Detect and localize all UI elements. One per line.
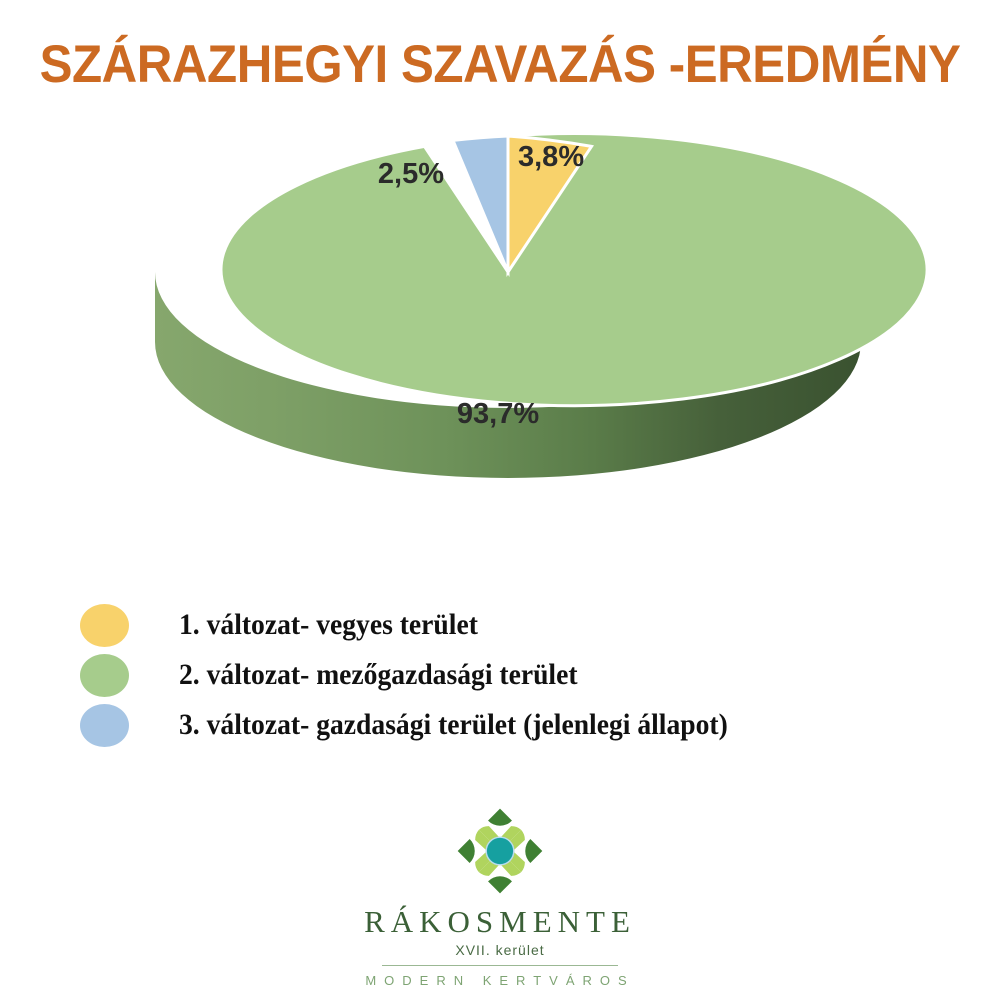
legend-swatch-blue-icon (80, 704, 129, 747)
page-title: SZÁRAZHEGYI SZAVAZÁS -EREDMÉNY (35, 34, 965, 95)
pie-top-face (221, 134, 927, 406)
legend-label-1: 1. változat- vegyes terület (179, 608, 478, 642)
legend-swatch-green-icon (80, 654, 129, 697)
slice-value-yellow: 3,8% (518, 141, 584, 173)
organization-logo: RÁKOSMENTE XVII. kerület MODERN KERTVÁRO… (0, 805, 1000, 987)
legend-label-3: 3. változat- gazdasági terület (jelenleg… (179, 708, 728, 742)
logo-divider (382, 965, 618, 966)
rakosmente-flower-icon (454, 805, 546, 897)
logo-tagline: MODERN KERTVÁROS (0, 974, 1000, 987)
logo-subtitle: XVII. kerület (0, 943, 1000, 957)
logo-name: RÁKOSMENTE (0, 906, 1000, 937)
pie-chart: 3,8% 2,5% 93,7% (0, 120, 1000, 550)
slice-value-green: 93,7% (457, 398, 539, 430)
legend-swatch-yellow-icon (80, 604, 129, 647)
pie-chart-svg: 3,8% 2,5% 93,7% (0, 120, 1000, 550)
legend-item-3[interactable]: 3. változat- gazdasági terület (jelenleg… (80, 700, 960, 750)
slice-value-blue: 2,5% (378, 158, 444, 190)
legend-item-1[interactable]: 1. változat- vegyes terület (80, 600, 960, 650)
legend-label-2: 2. változat- mezőgazdasági terület (179, 658, 578, 692)
legend-item-2[interactable]: 2. változat- mezőgazdasági terület (80, 650, 960, 700)
chart-legend: 1. változat- vegyes terület 2. változat-… (80, 600, 960, 750)
